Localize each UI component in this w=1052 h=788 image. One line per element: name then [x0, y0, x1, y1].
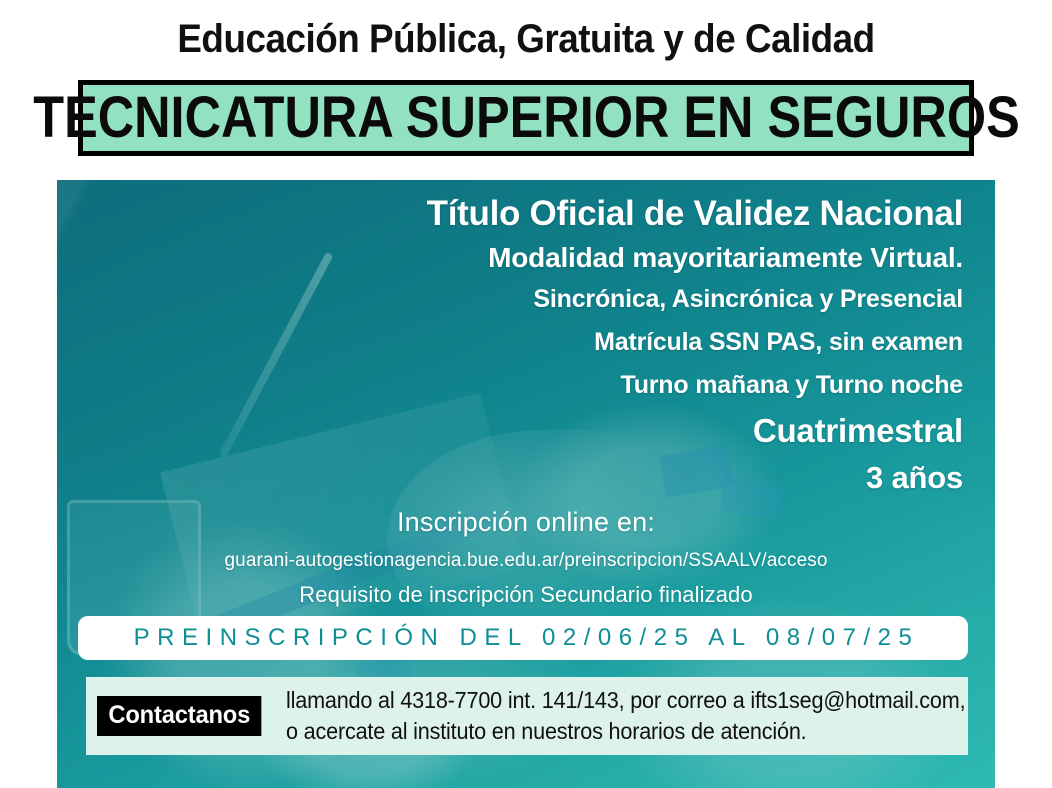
feature-matricula: Matrícula SSN PAS, sin examen — [594, 328, 963, 357]
contact-line-phone-email: llamando al 4318-7700 int. 141/143, por … — [286, 685, 965, 716]
contact-line-address: o acercate al instituto en nuestros hora… — [286, 716, 965, 747]
contact-badge: Contactanos — [97, 696, 262, 736]
flyer-header: Educación Pública, Gratuita y de Calidad… — [0, 0, 1052, 180]
contact-box: Contactanos llamando al 4318-7700 int. 1… — [86, 677, 968, 755]
preinscription-date-bar: PREINSCRIPCIÓN DEL 02/06/25 AL 08/07/25 — [78, 616, 968, 660]
preinscription-date-text: PREINSCRIPCIÓN DEL 02/06/25 AL 08/07/25 — [127, 624, 920, 652]
panel-copy: Título Oficial de Validez Nacional Modal… — [57, 180, 995, 788]
contact-details: llamando al 4318-7700 int. 141/143, por … — [286, 685, 965, 747]
program-title-banner: TECNICATURA SUPERIOR EN SEGUROS — [78, 80, 974, 156]
page-title: Educación Pública, Gratuita y de Calidad — [42, 16, 1010, 62]
feature-duracion: 3 años — [866, 460, 963, 496]
program-title: TECNICATURA SUPERIOR EN SEGUROS — [33, 88, 1019, 148]
feature-turnos: Turno mañana y Turno noche — [620, 371, 963, 400]
feature-sincronica: Sincrónica, Asincrónica y Presencial — [533, 285, 963, 314]
feature-titulo-oficial: Título Oficial de Validez Nacional — [427, 194, 963, 234]
enrollment-url[interactable]: guarani-autogestionagencia.bue.edu.ar/pr… — [57, 550, 995, 572]
enrollment-online-label: Inscripción online en: — [57, 507, 995, 538]
enrollment-requirement: Requisito de inscripción Secundario fina… — [57, 582, 995, 608]
poster-main-panel: Título Oficial de Validez Nacional Modal… — [57, 180, 995, 788]
feature-modalidad: Modalidad mayoritariamente Virtual. — [488, 242, 963, 274]
feature-cuatrimestral: Cuatrimestral — [753, 412, 963, 450]
